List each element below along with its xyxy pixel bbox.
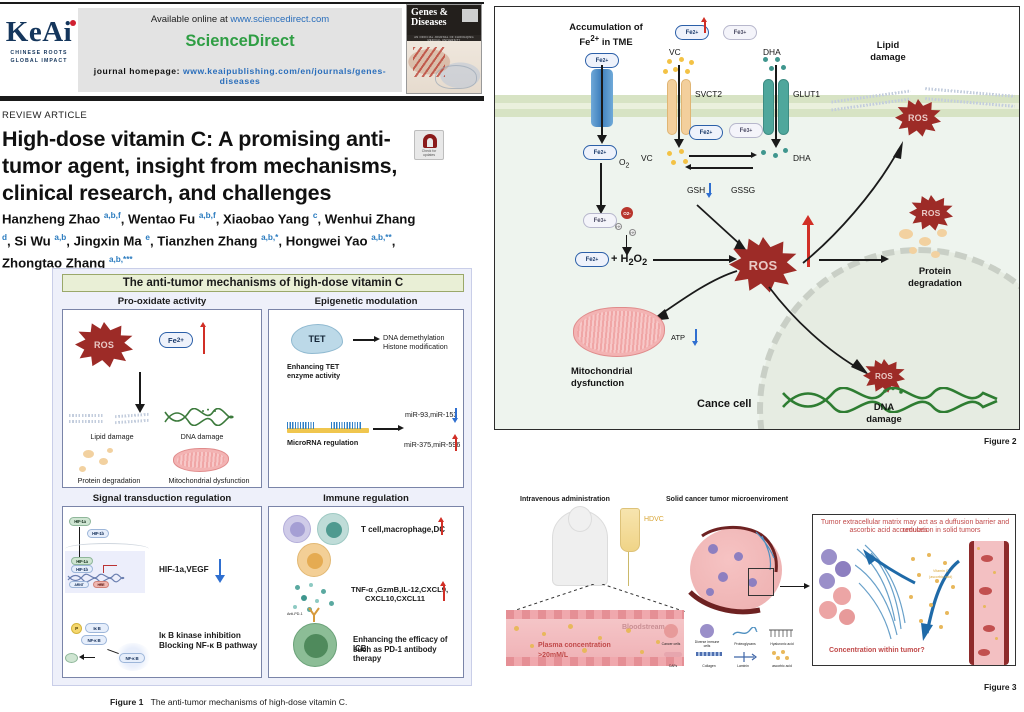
journal-homepage-link[interactable]: www.keaipublishing.com/en/journals/genes… xyxy=(183,66,386,86)
legend-label-proteoglycans: Proteoglycans xyxy=(728,640,762,649)
macrophage-icon xyxy=(317,513,349,545)
label-lipid-line2: damage xyxy=(843,51,933,63)
label-enhancing-tet-1: Enhancing TET xyxy=(287,362,339,371)
label-vitamin-c-line2: (ascorbic acid) xyxy=(929,573,952,582)
membrane-band-inner xyxy=(495,109,1019,117)
label-vc-intracellular: VC xyxy=(641,153,653,164)
label-plasma-line2: >20mM/L xyxy=(538,652,568,661)
lipid-membrane-icon xyxy=(69,414,103,417)
down-arrow-head-icon xyxy=(135,404,145,413)
ros-to-dna-arrow-icon xyxy=(765,285,875,382)
label-tcell-macrophage-dc: T cell,macrophage,DC xyxy=(361,525,445,534)
figure-1-caption: Figure 1 The anti-tumor mechanisms of hi… xyxy=(110,697,470,708)
proton-icon-1: H+ xyxy=(615,223,622,230)
protein-fragment-icon-2 xyxy=(99,458,108,465)
macrophage-nucleus xyxy=(326,522,342,538)
microrna-teeth-icon-2 xyxy=(331,422,361,429)
hif1b-tag-2: HIF-1b xyxy=(71,565,93,573)
label-tumor-microenvironment: Solid cancer tumor microenviroment xyxy=(666,496,788,505)
protein-fragment-icon-1 xyxy=(83,450,94,458)
glut1-channel-left-icon xyxy=(763,79,774,135)
legend-cancer-cell-icon xyxy=(664,624,678,638)
figure1-header-banner: The anti-tumor mechanisms of high-dose v… xyxy=(62,274,464,292)
quadrant-title-epigenetic: Epigenetic modulation xyxy=(268,296,464,307)
available-online-text: Available online at xyxy=(151,14,231,25)
keai-tagline-line2: GLOBAL IMPACT xyxy=(3,58,75,66)
tet-arrow-head-icon xyxy=(374,336,380,342)
figure3-caption-label: Figure 3 xyxy=(984,682,1017,692)
label-panel3-note-line2: ascorbic acid accumulation in solid tumo… xyxy=(819,527,1011,535)
figure-3-caption: Figure 3 Potential mechanisms underlying… xyxy=(984,682,1024,693)
tumor-cell-icon xyxy=(293,623,337,667)
label-mir375-mir596: miR-375,miR-596 xyxy=(404,440,460,449)
legend-label-collagen: Collagen xyxy=(692,662,726,671)
patient-head-icon xyxy=(568,506,592,532)
ros-burst-icon: ROS xyxy=(75,322,133,368)
tcell-icon xyxy=(283,515,311,543)
arnt-tag: ARNT xyxy=(69,581,89,588)
svct2-channel-right-icon xyxy=(681,79,691,135)
label-mitochondrial-dysfunction: Mitochondrial dysfunction xyxy=(157,476,261,485)
label-gsh: GSH xyxy=(687,185,705,196)
keai-tagline-line1: CHINESE ROOTS xyxy=(3,50,75,58)
label-lipid-line1: Lipid xyxy=(843,39,933,51)
cover-badge-icon xyxy=(462,9,478,22)
figure-2-caption: Figure 2 Elevated intracellular oxidativ… xyxy=(984,436,1024,447)
available-online-line: Available online at www.sciencedirect.co… xyxy=(78,14,402,25)
quadrant-box-pro-oxidate: ROS Fe2+ Lipid damage xyxy=(62,309,262,488)
gsh-down-arrow-head-icon xyxy=(706,193,712,198)
cytokine-up-arrow-head-icon xyxy=(440,581,446,586)
tumor-cell-nucleus xyxy=(304,634,328,658)
label-dha-extracellular: DHA xyxy=(763,47,781,58)
ros-to-protein-arrow-shaft xyxy=(819,259,883,261)
label-hif1a-vegf: HIF-1a,VEGF xyxy=(159,565,209,574)
label-lipid-damage: Lipid damage xyxy=(77,432,147,441)
ros-to-lipid-arrow-icon xyxy=(795,137,915,272)
fe2-top-up-arrow-shaft xyxy=(704,21,706,33)
figure1-caption-label: Figure 1 xyxy=(110,697,143,707)
label-protein-degradation: Protein degradation xyxy=(63,476,155,485)
left-column: KeAi CHINESE ROOTS GLOBAL IMPACT Availab… xyxy=(0,0,490,712)
label-accumulation-line1: Accumulation of xyxy=(541,21,671,33)
label-dna-line2: damage xyxy=(847,413,921,425)
fe3-pill-mid: Fe3+ xyxy=(729,123,763,138)
article-type-kicker: REVIEW ARTICLE xyxy=(2,110,87,121)
nuclear-membrane-icon xyxy=(65,543,149,555)
label-ikb-kinase-inhibition: Iκ B kinase inhibition xyxy=(159,631,241,640)
fe2-pill-icon: Fe2+ xyxy=(159,332,193,348)
journal-cover-thumbnail[interactable]: Genes & Diseases AN OFFICIAL JOURNAL OF … xyxy=(406,4,482,94)
svct2-channel-left-icon xyxy=(667,79,677,135)
protein-fragment-f2-3 xyxy=(937,229,947,237)
label-mito-line2: dysfunction xyxy=(571,377,624,389)
hif-down-arrow-head-icon xyxy=(215,575,225,583)
mirna-arrow-head-icon xyxy=(398,425,404,431)
figure-1-panel: The anti-tumor mechanisms of high-dose v… xyxy=(52,268,472,686)
label-iv-administration: Intravenous administration xyxy=(520,496,610,505)
quadrant-box-epigenetic: TET DNA demethylation Histone modificati… xyxy=(268,309,464,488)
quadrant-box-immune: T cell,macrophage,DC TNF-α ,GzmB,IL-1 xyxy=(268,506,464,678)
microrna-teeth-icon-1 xyxy=(287,422,315,429)
sciencedirect-wordmark: ScienceDirect xyxy=(78,32,402,51)
dha-influx-arrow-head-icon xyxy=(771,139,781,148)
glut1-channel-right-icon xyxy=(778,79,789,135)
protein-fragment-icon-3 xyxy=(79,466,86,472)
dha-to-vc-arrow-head-icon xyxy=(685,164,691,170)
label-bloodstream: Bloodstream xyxy=(622,624,665,633)
label-hdvc: HDVC xyxy=(644,516,664,525)
protein-fragment-f2-4 xyxy=(909,247,917,254)
sciencedirect-link[interactable]: www.sciencedirect.com xyxy=(230,14,329,25)
protein-fragment-icon-4 xyxy=(107,448,113,453)
figure3-panel3-box: Tumor extracellular matrix may act as a … xyxy=(812,514,1016,666)
dha-to-vc-arrow-shaft xyxy=(689,167,753,169)
label-mir93-mir153: miR-93,miR-153 xyxy=(405,410,457,419)
ros-to-protein-arrow-head-icon xyxy=(881,255,889,263)
fe2-top-up-arrow-head-icon xyxy=(701,17,707,22)
transcription-arrow-icon xyxy=(103,565,117,573)
down-arrow-shaft xyxy=(139,372,141,406)
cover-masthead: Genes & Diseases xyxy=(407,5,481,35)
tcell-nucleus xyxy=(290,522,305,537)
tumor-zoom-selection-box[interactable] xyxy=(748,568,774,596)
label-vc-extracellular: VC xyxy=(669,47,681,58)
figure-2-panel: Accumulation of Fe2+ in TME Fe2+ Fe2+ O2… xyxy=(494,6,1020,430)
legend-label-cancer-cells: Cancer cells xyxy=(658,640,684,649)
superoxide-icon: O2- xyxy=(621,207,633,219)
nfkb-tag-1: NF-κ B xyxy=(81,635,107,645)
label-microrna-regulation: MicroRNA regulation xyxy=(287,438,358,447)
quadrant-title-immune: Immune regulation xyxy=(268,493,464,504)
mitochondrion-icon xyxy=(173,448,229,472)
journal-homepage-line: journal homepage: www.keaipublishing.com… xyxy=(78,66,402,86)
tet-arrow-shaft xyxy=(353,339,375,341)
legend-immune-cell-icon xyxy=(700,624,714,638)
label-concentration-question: Concentration within tumor? xyxy=(829,647,925,656)
label-blocking-nfkb: Blocking NF-κ B pathway xyxy=(159,641,257,650)
label-atp: ATP xyxy=(671,333,685,344)
sciencedirect-banner: Available online at www.sciencedirect.co… xyxy=(78,8,402,92)
atp-down-arrow-head-icon xyxy=(692,341,698,346)
degraded-protein-icon xyxy=(65,653,78,663)
label-o2: O2 xyxy=(619,157,629,172)
protein-fragment-f2-2 xyxy=(919,237,931,246)
tumor-to-panel3-arrow-head-icon xyxy=(804,583,810,589)
crossmark-label: Check forupdates xyxy=(415,149,443,157)
proton-icon-2: H+ xyxy=(629,229,636,236)
label-protein-line2: degradation xyxy=(883,277,987,289)
label-protein-line1: Protein xyxy=(883,265,987,277)
lipid-membrane-icon-2 xyxy=(69,420,103,423)
hif1a-tag-2: HIF-1a xyxy=(71,557,93,565)
legend-label-immune-cells: Diverse immune cells xyxy=(692,640,722,648)
quadrant-title-signal: Signal transduction regulation xyxy=(62,493,262,504)
hre-tag: HRE xyxy=(93,581,109,588)
fenton-arrow-shaft xyxy=(600,163,602,209)
vc-influx-arrow-shaft xyxy=(678,65,680,143)
figure3-legend: Cancer cells Diverse immune cells Proteo… xyxy=(662,624,802,672)
ascorbic-acid-dots-field xyxy=(905,551,965,635)
fe2-pill-cyto: Fe2+ xyxy=(583,145,617,160)
lipid-membrane-icon-4 xyxy=(115,419,149,424)
iv-line-icon xyxy=(628,552,629,586)
fe3-pill-top: Fe3+ xyxy=(723,25,757,40)
dha-influx-arrow-shaft xyxy=(775,65,777,143)
label-dna-demethylation: DNA demethylation xyxy=(383,333,465,342)
legend-label-ascorbic-acid: ascorbic acid xyxy=(764,662,800,671)
vc-to-dha-arrow-head-icon xyxy=(751,152,757,158)
label-accumulation-line2: Fe2+ in TME xyxy=(541,33,671,48)
bloodstream-vessel-icon xyxy=(506,610,684,666)
label-enhancing-tet-2: enzyme activity xyxy=(287,371,340,380)
legend-collagen-icon xyxy=(696,652,722,656)
fe2-pill-fenton: Fe2+ xyxy=(575,252,609,267)
label-glut1: GLUT1 xyxy=(793,89,820,100)
figure1-caption-text: The anti-tumor mechanisms of high-dose v… xyxy=(151,697,348,707)
label-svct2: SVCT2 xyxy=(695,89,722,100)
cover-artwork xyxy=(407,41,481,93)
dc-nucleus xyxy=(307,553,323,569)
label-cytokines-line1: TNF-α ,GzmB,IL-12,CXCL9, xyxy=(351,585,448,594)
label-cytokines-line2: CXCL10,CXCL11 xyxy=(365,594,425,603)
keai-red-dot-icon xyxy=(70,20,76,26)
lipid-membrane-icon-3 xyxy=(115,413,149,418)
crossmark-shield-icon xyxy=(423,134,437,148)
quadrant-box-signal: HIF-1a HIF-1b HIF-1a HIF-1b ARNT HRE HIF… xyxy=(62,506,262,678)
figure-3-panel: Intravenous administration Solid cancer … xyxy=(494,492,1020,674)
mirna-arrow-shaft xyxy=(373,428,399,430)
iv-bag-icon xyxy=(620,508,640,552)
mir375-up-arrow-head-icon xyxy=(452,434,458,439)
quadrant-title-pro-oxidate: Pro-oxidate activity xyxy=(62,296,262,307)
keai-logo: KeAi CHINESE ROOTS GLOBAL IMPACT xyxy=(3,18,75,65)
protein-fragment-f2-5 xyxy=(931,251,940,258)
legend-label-hyaluronic-acid: Hyaluronic acid xyxy=(764,640,800,649)
degradation-arrow-head-icon xyxy=(79,654,84,660)
iron-influx-arrow-shaft xyxy=(601,65,603,139)
article-page: KeAi CHINESE ROOTS GLOBAL IMPACT Availab… xyxy=(0,0,1024,712)
journal-header: KeAi CHINESE ROOTS GLOBAL IMPACT Availab… xyxy=(0,0,484,100)
dendritic-cell-icon xyxy=(297,543,331,577)
label-anti-pd1: Anti-PD-1 xyxy=(287,610,303,619)
label-plasma-line1: Plasma concentration xyxy=(538,642,611,651)
tet-enzyme-icon: TET xyxy=(291,324,343,354)
mir375-up-arrow-shaft xyxy=(455,438,457,451)
immune-up-arrow-shaft xyxy=(441,521,443,535)
ikb-tag: Iκ B xyxy=(85,623,109,633)
up-arrow-head-icon xyxy=(200,322,206,327)
label-histone-modification: Histone modification xyxy=(383,342,465,351)
cover-title-line2: Diseases xyxy=(411,17,447,28)
mir93-down-arrow-head-icon xyxy=(452,418,458,423)
legend-ascorbic-acid-icon xyxy=(770,650,792,662)
label-mito-line1: Mitochondrial xyxy=(571,365,632,377)
fe3-pill-cyto: Fe3+ xyxy=(583,213,617,228)
legend-label-laminin: Laminin xyxy=(728,662,758,671)
protein-fragment-f2-1 xyxy=(899,229,913,239)
fe2-pill-mid: Fe2+ xyxy=(689,125,723,140)
blood-vessel-cross-section-icon xyxy=(969,541,1009,665)
figure2-caption-label: Figure 2 xyxy=(984,436,1017,446)
dna-damage-icon xyxy=(163,408,235,426)
vc-influx-arrow-head-icon xyxy=(674,139,684,148)
label-cancer-cell: Cance cell xyxy=(697,399,751,411)
legend-label-cafs: CAFs xyxy=(660,662,686,671)
right-column: Accumulation of Fe2+ in TME Fe2+ Fe2+ O2… xyxy=(490,0,1024,712)
journal-homepage-label: journal homepage: xyxy=(94,66,183,76)
header-rule-bottom xyxy=(0,96,484,101)
crossmark-badge-icon[interactable]: Check forupdates xyxy=(414,130,444,160)
keai-wordmark: KeAi xyxy=(6,18,72,47)
hif1b-tag-1: HIF-1b xyxy=(87,529,109,538)
author-list: Hanzheng Zhao a,b,f, Wentao Fu a,b,f, Xi… xyxy=(2,207,422,273)
up-arrow-shaft xyxy=(203,326,205,354)
hif1a-tag-1: HIF-1a xyxy=(69,517,91,526)
iron-influx-arrow-head-icon xyxy=(597,135,607,144)
legend-caf-icon xyxy=(664,652,682,657)
tumor-vasculature-icon xyxy=(686,522,790,623)
immune-up-arrow-head-icon xyxy=(438,517,444,522)
vc-to-dha-arrow-shaft xyxy=(689,155,753,157)
label-icb-line2: such as PD-1 antibody therapy xyxy=(353,645,463,663)
tumor-to-panel3-arrow-shaft xyxy=(780,586,806,587)
phosphate-tag: P xyxy=(71,623,82,634)
cytokine-up-arrow-shaft xyxy=(443,585,445,601)
nfkb-tag-2: NF-κ B xyxy=(119,653,145,663)
page-title: High-dose vitamin C: A promising anti-tu… xyxy=(2,126,402,207)
label-dna-damage: DNA damage xyxy=(167,432,237,441)
label-dna-line1: DNA xyxy=(847,401,921,413)
label-gssg: GSSG xyxy=(731,185,755,196)
label-fenton-reaction: + H2O2 xyxy=(611,254,647,269)
